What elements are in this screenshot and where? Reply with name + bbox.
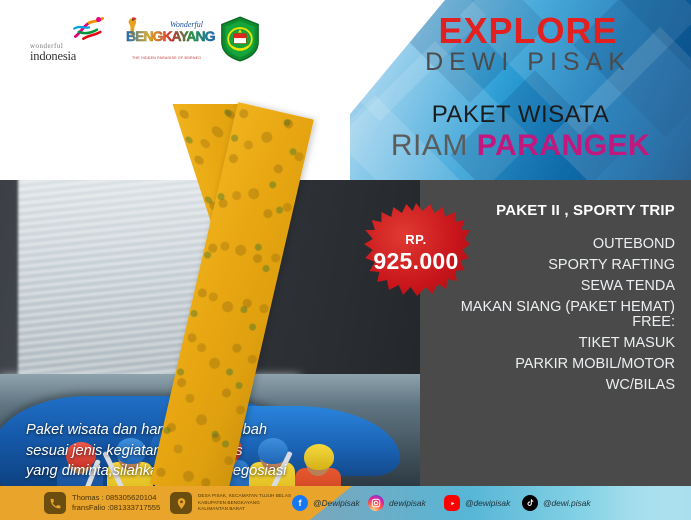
wonderful-indonesia-wordmark: wonderful indonesia [30, 43, 76, 63]
phone-line-2: fransFalio :081333717555 [72, 503, 160, 513]
logo-zone: wonderful indonesia Wonderful BENGKAYANG… [0, 0, 350, 180]
bengkayang-tagline: THE HIDDEN PARADISE OF BORNEO [132, 56, 201, 60]
price-badge-text: RP. 925.000 [362, 203, 470, 303]
youtube-handle: @dewipisak [465, 498, 510, 508]
caption-line-3: yang diminta,silahkan lakukan negosiasi [26, 461, 346, 482]
subtitle-parangek: PARANGEK [477, 129, 650, 162]
caption-line-1: Paket wisata dan harga bisa berubah [26, 420, 346, 441]
free-item: TIKET MASUK [515, 333, 675, 354]
price-currency: RP. [405, 233, 427, 247]
footer-right-fade [600, 486, 691, 520]
bengkayang-regency-emblem [220, 16, 260, 62]
free-item: WC/BILAS [515, 375, 675, 396]
contact-phone-block[interactable]: Thomas : 085305620104 fransFalio :081333… [44, 492, 160, 514]
logo-row: wonderful indonesia Wonderful BENGKAYANG… [30, 16, 260, 62]
photo-waterfall [18, 180, 214, 406]
phone-lines: Thomas : 085305620104 fransFalio :081333… [72, 493, 160, 514]
facebook-handle: @Dewipisak [313, 498, 360, 508]
free-inclusions-list: FREE: TIKET MASUK PARKIR MOBIL/MOTOR WC/… [515, 312, 675, 396]
address-lines: DESA PISAK, KECAMATAN TUJUH BELAS KABUPA… [198, 493, 291, 513]
package-heading: PAKET II , SPORTY TRIP [496, 202, 675, 219]
headline-explore: EXPLORE [378, 14, 678, 48]
tiktok-handle: @dewi.pisak [543, 498, 591, 508]
contact-footer: Thomas : 085305620104 fransFalio :081333… [0, 486, 691, 520]
caption-line-2: sesuai jenis kegiatan dan sevices [26, 441, 346, 462]
subtitle-riam-parangek: RIAM PARANGEK [358, 129, 683, 163]
package-item: SEWA TENDA [461, 276, 675, 297]
headline-destination: DEWI PISAK [378, 49, 678, 77]
promotional-poster: wonderful indonesia Wonderful BENGKAYANG… [0, 0, 691, 520]
rafting-photo: Paket wisata dan harga bisa berubah sesu… [0, 180, 420, 486]
location-pin-icon [170, 492, 192, 514]
facebook-icon: f [292, 495, 308, 511]
social-facebook[interactable]: f @Dewipisak [292, 495, 360, 511]
price-badge: RP. 925.000 [362, 203, 470, 303]
wonderful-indonesia-logo: wonderful indonesia [30, 17, 110, 61]
subtitle-riam: RIAM [391, 129, 468, 162]
social-tiktok[interactable]: @dewi.pisak [522, 495, 591, 511]
phone-line-1: Thomas : 085305620104 [72, 493, 160, 503]
poster-subtitle: PAKET WISATA RIAM PARANGEK [358, 101, 683, 163]
instagram-handle: dewipisak [389, 498, 426, 508]
photo-caption: Paket wisata dan harga bisa berubah sesu… [26, 420, 346, 482]
subtitle-paket-wisata: PAKET WISATA [358, 101, 683, 129]
package-item: SPORTY RAFTING [461, 255, 675, 276]
package-item-list: OUTEBOND SPORTY RAFTING SEWA TENDA MAKAN… [461, 234, 675, 318]
social-instagram[interactable]: dewipisak [368, 495, 426, 511]
tiktok-icon [522, 495, 538, 511]
package-item: OUTEBOND [461, 234, 675, 255]
youtube-icon [444, 495, 460, 511]
instagram-icon [368, 495, 384, 511]
wonderful-indonesia-mark [72, 15, 106, 41]
phone-icon [44, 492, 66, 514]
free-item: PARKIR MOBIL/MOTOR [515, 354, 675, 375]
address-line-3: KALIMANTAN BARAT [198, 506, 291, 513]
social-youtube[interactable]: @dewipisak [444, 495, 510, 511]
free-label: FREE: [515, 312, 675, 333]
bengkayang-wordmark: BENGKAYANG [126, 28, 215, 44]
address-line-1: DESA PISAK, KECAMATAN TUJUH BELAS [198, 493, 291, 500]
price-amount: 925.000 [373, 249, 458, 273]
poster-headline: EXPLORE DEWI PISAK [378, 14, 678, 77]
contact-address-block: DESA PISAK, KECAMATAN TUJUH BELAS KABUPA… [170, 492, 291, 514]
wonderful-bengkayang-logo: Wonderful BENGKAYANG THE HIDDEN PARADISE… [126, 19, 204, 59]
